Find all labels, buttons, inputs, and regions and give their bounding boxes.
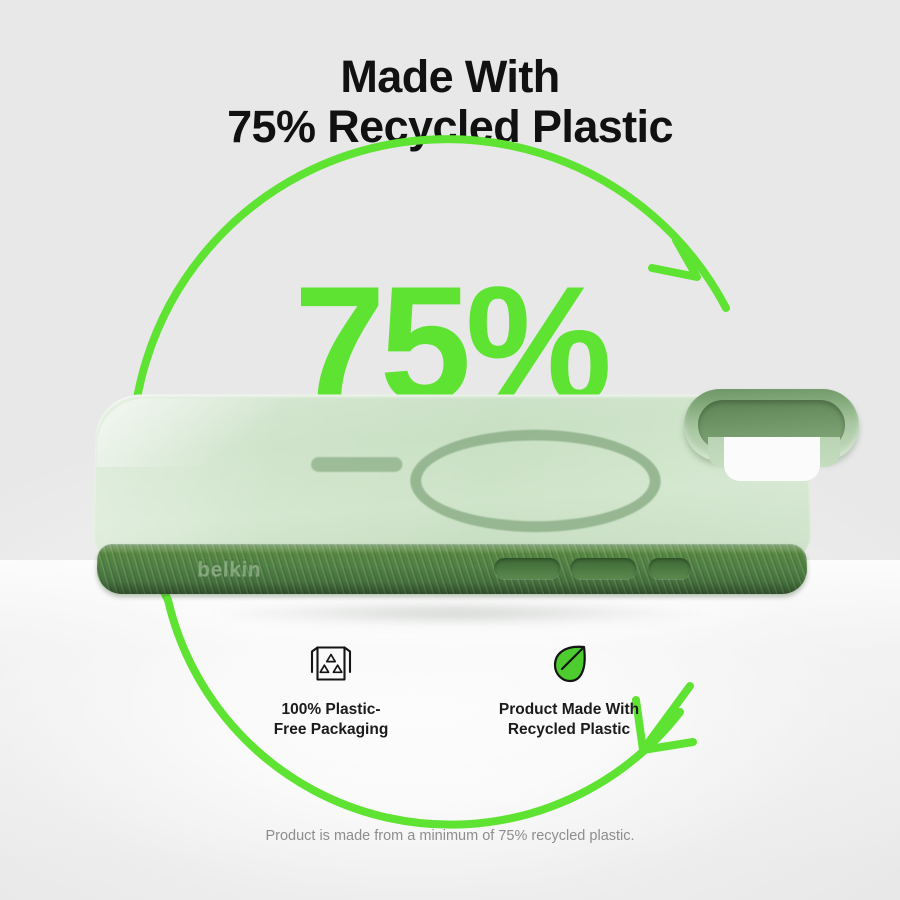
badge-label-line-2: Free Packaging [274, 721, 389, 738]
badge-plastic-free-packaging: 100% Plastic- Free Packaging [241, 636, 421, 741]
leaf-icon [479, 636, 659, 692]
badge-label: 100% Plastic- Free Packaging [241, 700, 421, 741]
badge-recycled-plastic: Product Made With Recycled Plastic [479, 636, 659, 741]
badge-label-line-1: 100% Plastic- [281, 701, 380, 718]
product-marketing-image: Made With 75% Recycled Plastic 75% b [0, 0, 900, 900]
recycle-box-icon [241, 636, 421, 692]
feature-badges: 100% Plastic- Free Packaging Product Mad… [0, 636, 900, 741]
badge-label-line-2: Recycled Plastic [508, 721, 630, 738]
recycle-arrow-lower [0, 0, 900, 900]
badge-label-line-1: Product Made With [499, 701, 639, 718]
badge-label: Product Made With Recycled Plastic [479, 700, 659, 741]
disclaimer-text: Product is made from a minimum of 75% re… [0, 828, 900, 844]
